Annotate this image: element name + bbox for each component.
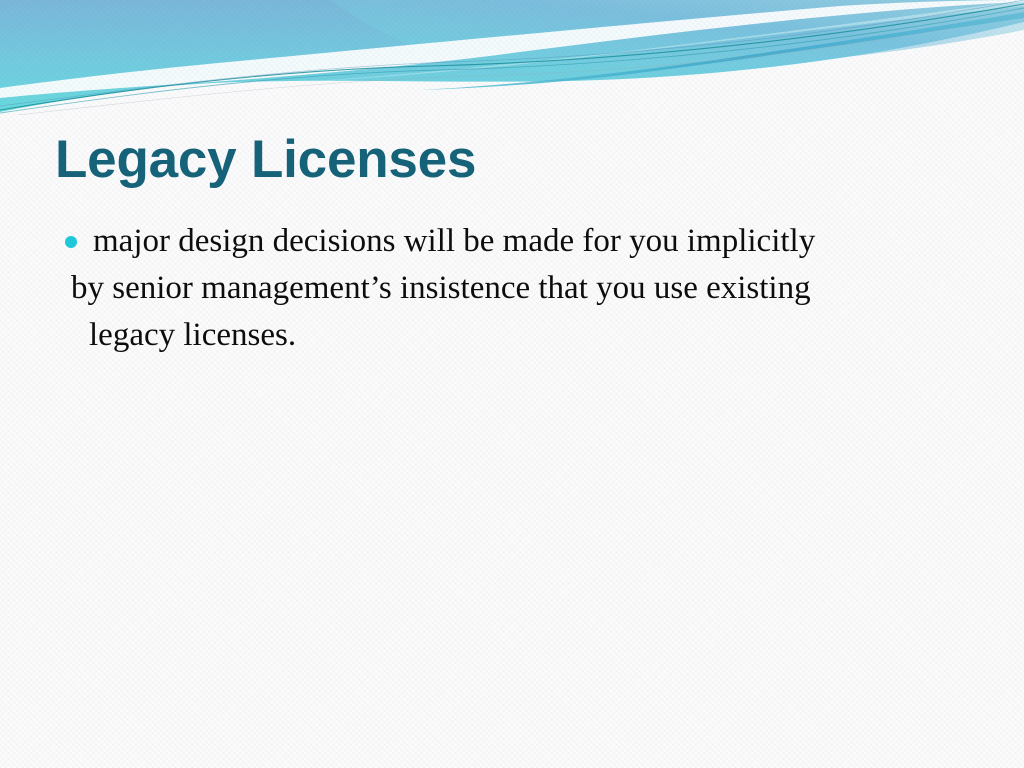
body-line-3: legacy licenses. [89, 312, 985, 359]
body-text-placeholder: major design decisions will be made for … [55, 218, 985, 359]
body-line-1: major design decisions will be made for … [93, 218, 985, 265]
slide-content: Legacy Licenses major design decisions w… [0, 0, 1024, 768]
slide-title: Legacy Licenses [55, 131, 955, 188]
bullet-point-icon [65, 236, 77, 248]
bullet-paragraph: major design decisions will be made for … [55, 218, 985, 359]
presentation-slide: Legacy Licenses major design decisions w… [0, 0, 1024, 768]
body-line-2: by senior management’s insistence that y… [71, 265, 985, 312]
